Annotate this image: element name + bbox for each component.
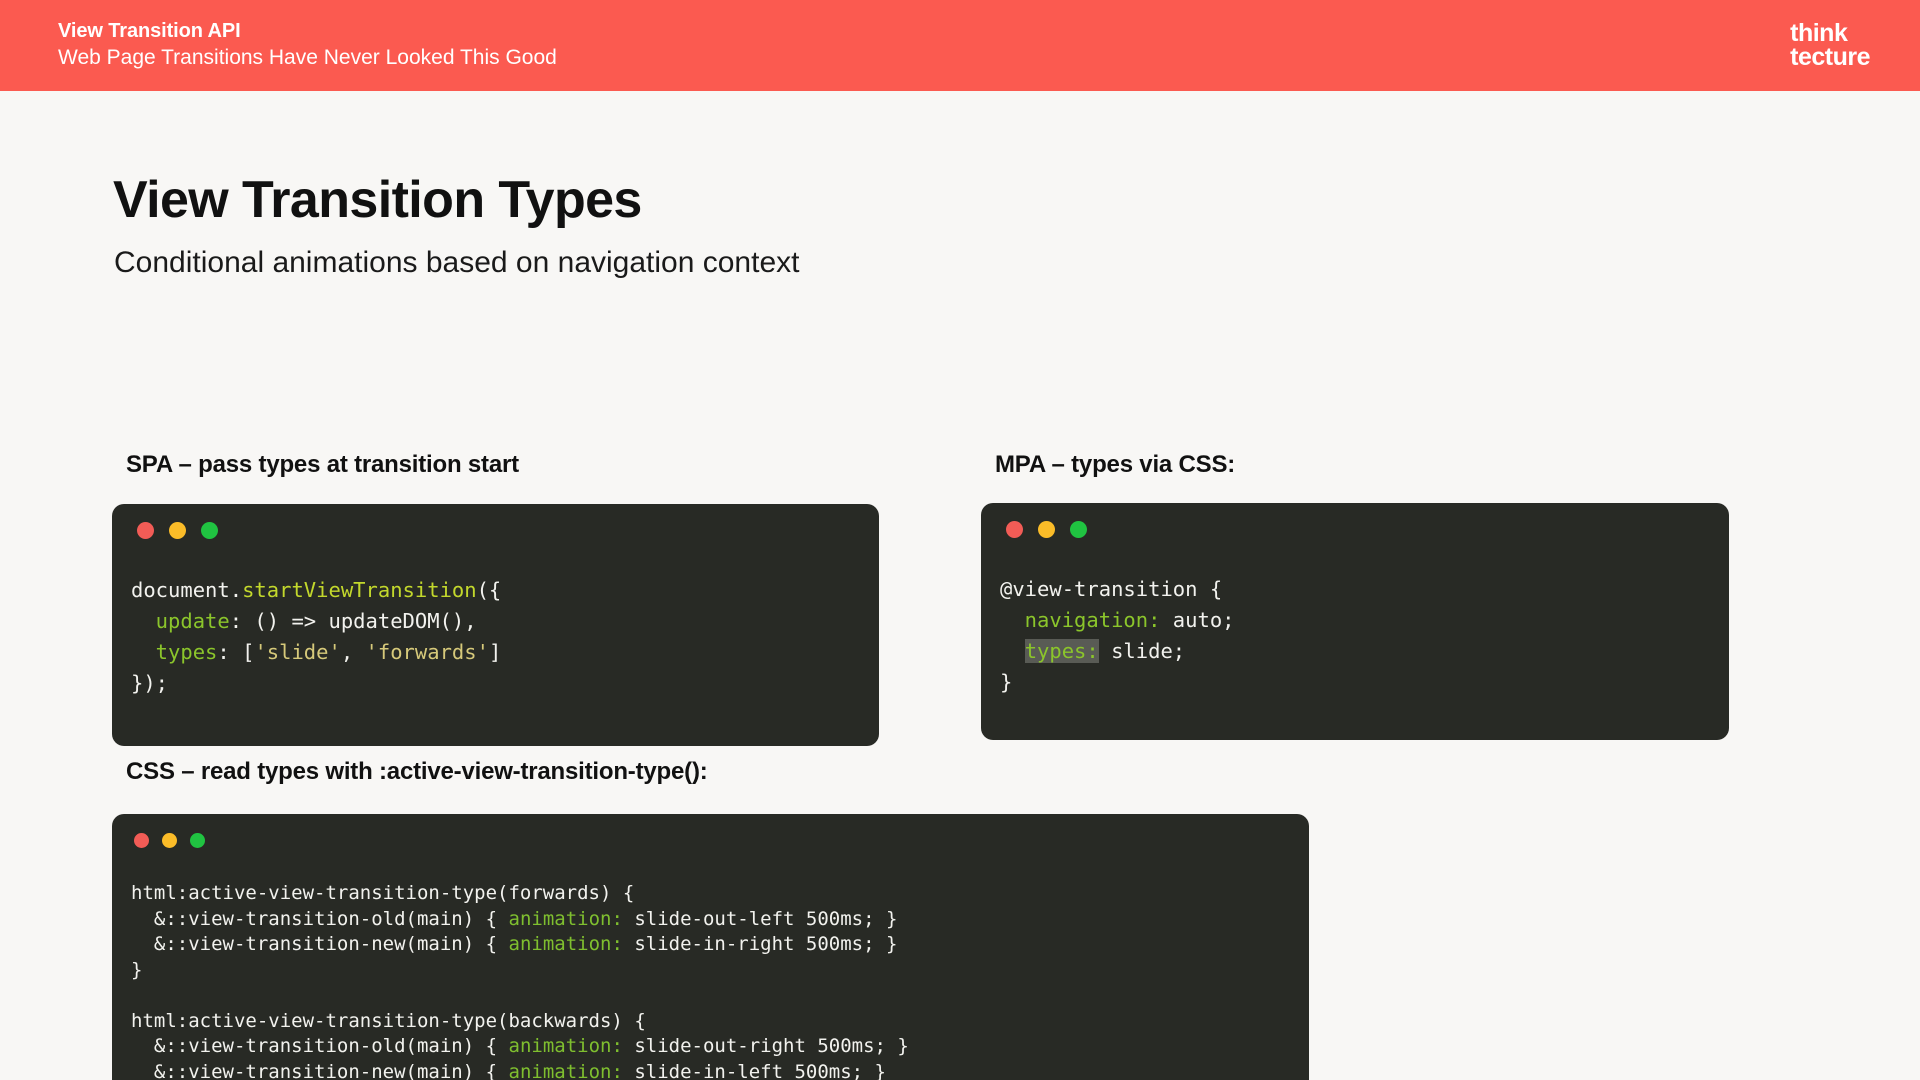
code-line: html:active-view-transition-type(backwar… (131, 1009, 1309, 1035)
code-line: &::view-transition-old(main) { animation… (131, 907, 1309, 933)
code-token: auto; (1160, 608, 1234, 632)
code-content-mpa: @view-transition { navigation: auto; typ… (981, 556, 1729, 698)
code-token: animation: (509, 1061, 623, 1080)
code-line: navigation: auto; (1000, 605, 1729, 636)
code-token-highlighted: types: (1025, 639, 1099, 663)
close-dot-icon[interactable] (134, 833, 149, 848)
code-content-spa: document.startViewTransition({ update: (… (112, 557, 879, 699)
code-token: } (131, 959, 142, 981)
thinktecture-logo: think tecture (1790, 22, 1920, 70)
page-title: View Transition Types (113, 170, 642, 230)
code-token: navigation: (1000, 608, 1160, 632)
code-line: &::view-transition-new(main) { animation… (131, 1060, 1309, 1080)
caption-mpa: MPA – types via CSS: (995, 451, 1235, 479)
page-subtitle: Conditional animations based on navigati… (114, 246, 799, 280)
code-token: slide-out-right 500ms; } (623, 1035, 909, 1057)
code-token: slide-in-left 500ms; } (623, 1061, 886, 1080)
minimize-dot-icon[interactable] (1038, 521, 1055, 538)
code-window-css: html:active-view-transition-type(forward… (112, 814, 1309, 1080)
close-dot-icon[interactable] (137, 522, 154, 539)
code-token: slide-out-left 500ms; } (623, 908, 898, 930)
maximize-dot-icon[interactable] (1070, 521, 1087, 538)
code-token: }); (131, 671, 168, 695)
header-title-group: View Transition API Web Page Transitions… (0, 20, 557, 70)
code-line: } (1000, 667, 1729, 698)
logo-line-think: think (1790, 22, 1870, 46)
code-window-titlebar-spa (112, 504, 879, 557)
maximize-dot-icon[interactable] (201, 522, 218, 539)
maximize-dot-icon[interactable] (190, 833, 205, 848)
code-line: types: slide; (1000, 636, 1729, 667)
slide-content: View Transition Types Conditional animat… (0, 91, 1920, 1080)
slide-header-bar: View Transition API Web Page Transitions… (0, 0, 1920, 91)
code-token: slide; (1099, 639, 1185, 663)
code-line: }); (131, 668, 879, 699)
code-token: &::view-transition-new(main) { (131, 933, 509, 955)
code-window-mpa: @view-transition { navigation: auto; typ… (981, 503, 1729, 740)
caption-css: CSS – read types with :active-view-trans… (126, 758, 708, 786)
code-token: animation: (509, 1035, 623, 1057)
code-token (1000, 639, 1025, 663)
code-token: : () => updateDOM(), (230, 609, 477, 633)
code-token: animation: (509, 908, 623, 930)
code-token: types (131, 640, 217, 664)
code-line: types: ['slide', 'forwards'] (131, 637, 879, 668)
code-window-titlebar-css (112, 814, 1309, 867)
minimize-dot-icon[interactable] (169, 522, 186, 539)
code-token: html:active-view-transition-type(forward… (131, 882, 634, 904)
code-token: &::view-transition-old(main) { (131, 908, 509, 930)
code-window-titlebar-mpa (981, 503, 1729, 556)
code-line: update: () => updateDOM(), (131, 606, 879, 637)
code-token: } (1000, 670, 1012, 694)
close-dot-icon[interactable] (1006, 521, 1023, 538)
code-token: &::view-transition-old(main) { (131, 1035, 509, 1057)
code-token: @view-transition { (1000, 577, 1222, 601)
code-token: , (341, 640, 366, 664)
code-line: &::view-transition-new(main) { animation… (131, 932, 1309, 958)
code-token: update (131, 609, 230, 633)
code-token: 'forwards' (366, 640, 489, 664)
code-line: html:active-view-transition-type(forward… (131, 881, 1309, 907)
code-line: &::view-transition-old(main) { animation… (131, 1034, 1309, 1060)
code-token: startViewTransition (242, 578, 477, 602)
code-line: } (131, 958, 1309, 984)
header-talk-subtitle: Web Page Transitions Have Never Looked T… (58, 45, 557, 70)
code-token: html:active-view-transition-type(backwar… (131, 1010, 646, 1032)
code-token: &::view-transition-new(main) { (131, 1061, 509, 1080)
code-token: animation: (509, 933, 623, 955)
code-token: ({ (477, 578, 502, 602)
code-content-css: html:active-view-transition-type(forward… (112, 867, 1309, 1080)
code-blank-line (131, 983, 1309, 1009)
minimize-dot-icon[interactable] (162, 833, 177, 848)
code-window-spa: document.startViewTransition({ update: (… (112, 504, 879, 746)
header-talk-title: View Transition API (58, 20, 557, 43)
code-token: : [ (217, 640, 254, 664)
code-line: document.startViewTransition({ (131, 575, 879, 606)
code-token: ] (489, 640, 501, 664)
caption-spa: SPA – pass types at transition start (126, 451, 519, 479)
code-token: document. (131, 578, 242, 602)
logo-line-tecture: tecture (1790, 46, 1870, 70)
code-line: @view-transition { (1000, 574, 1729, 605)
code-token: slide-in-right 500ms; } (623, 933, 898, 955)
code-token: 'slide' (254, 640, 340, 664)
